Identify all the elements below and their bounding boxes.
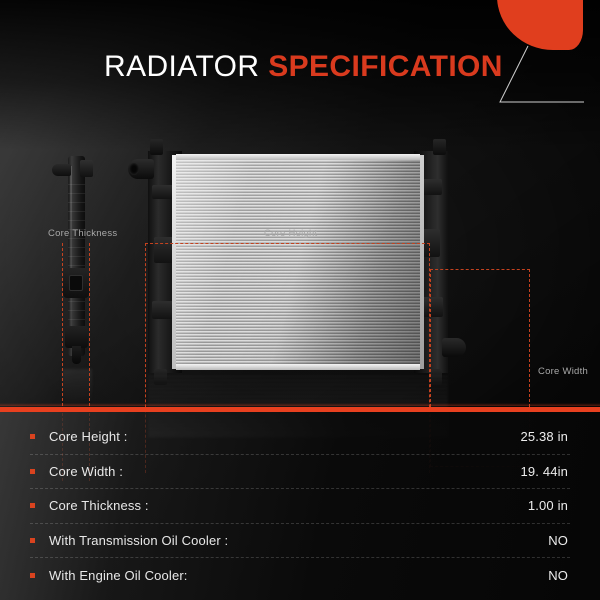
spec-row-label-group: Core Thickness : xyxy=(30,498,149,513)
spec-label: With Transmission Oil Cooler : xyxy=(49,533,228,548)
page-title-accent: SPECIFICATION xyxy=(268,50,503,83)
spec-row-label-group: With Engine Oil Cooler: xyxy=(30,568,188,583)
bullet-square-icon xyxy=(30,538,35,543)
radiator-mount-tab xyxy=(433,139,446,155)
side-filler-neck xyxy=(80,160,93,177)
specification-list: Core Height :25.38 inCore Width :19. 44i… xyxy=(30,420,570,593)
product-image-area: Core Thickness Core Height Core Width xyxy=(0,105,600,410)
callout-label-core-thickness: Core Thickness xyxy=(48,228,117,239)
spec-row-label-group: Core Width : xyxy=(30,464,123,479)
radiator-top-rail xyxy=(176,154,420,160)
divider-glow xyxy=(0,403,600,406)
spec-row: Core Height :25.38 in xyxy=(30,420,570,455)
spec-row: With Engine Oil Cooler:NO xyxy=(30,558,570,593)
spec-value: 19. 44in xyxy=(521,464,570,479)
spec-value: NO xyxy=(548,568,570,583)
specification-table-section: Core Height :25.38 inCore Width :19. 44i… xyxy=(0,412,600,600)
bullet-square-icon xyxy=(30,469,35,474)
spec-label: With Engine Oil Cooler: xyxy=(49,568,188,583)
radiator-inlet-neck xyxy=(128,159,154,179)
callout-label-core-height: Core Height xyxy=(264,228,317,239)
spec-row-label-group: Core Height : xyxy=(30,429,128,444)
bullet-square-icon xyxy=(30,573,35,578)
spec-row: With Transmission Oil Cooler :NO xyxy=(30,524,570,559)
spec-row: Core Thickness :1.00 in xyxy=(30,489,570,524)
radiator-mount-tab xyxy=(150,139,163,155)
spec-label: Core Width : xyxy=(49,464,123,479)
spec-label: Core Height : xyxy=(49,429,128,444)
callout-label-core-width: Core Width xyxy=(538,366,588,377)
bullet-square-icon xyxy=(30,434,35,439)
spec-value: NO xyxy=(548,533,570,548)
spec-row: Core Width :19. 44in xyxy=(30,455,570,490)
page-title-primary: RADIATOR xyxy=(104,50,259,83)
tank-detail xyxy=(152,185,174,199)
radiator-specification-page: RADIATOR SPECIFICATION xyxy=(0,0,600,600)
page-title: RADIATOR SPECIFICATION xyxy=(104,50,503,84)
spec-value: 25.38 in xyxy=(521,429,570,444)
spec-row-label-group: With Transmission Oil Cooler : xyxy=(30,533,228,548)
spec-label: Core Thickness : xyxy=(49,498,149,513)
bullet-square-icon xyxy=(30,503,35,508)
spec-value: 1.00 in xyxy=(528,498,570,513)
side-inlet-neck xyxy=(52,164,71,176)
